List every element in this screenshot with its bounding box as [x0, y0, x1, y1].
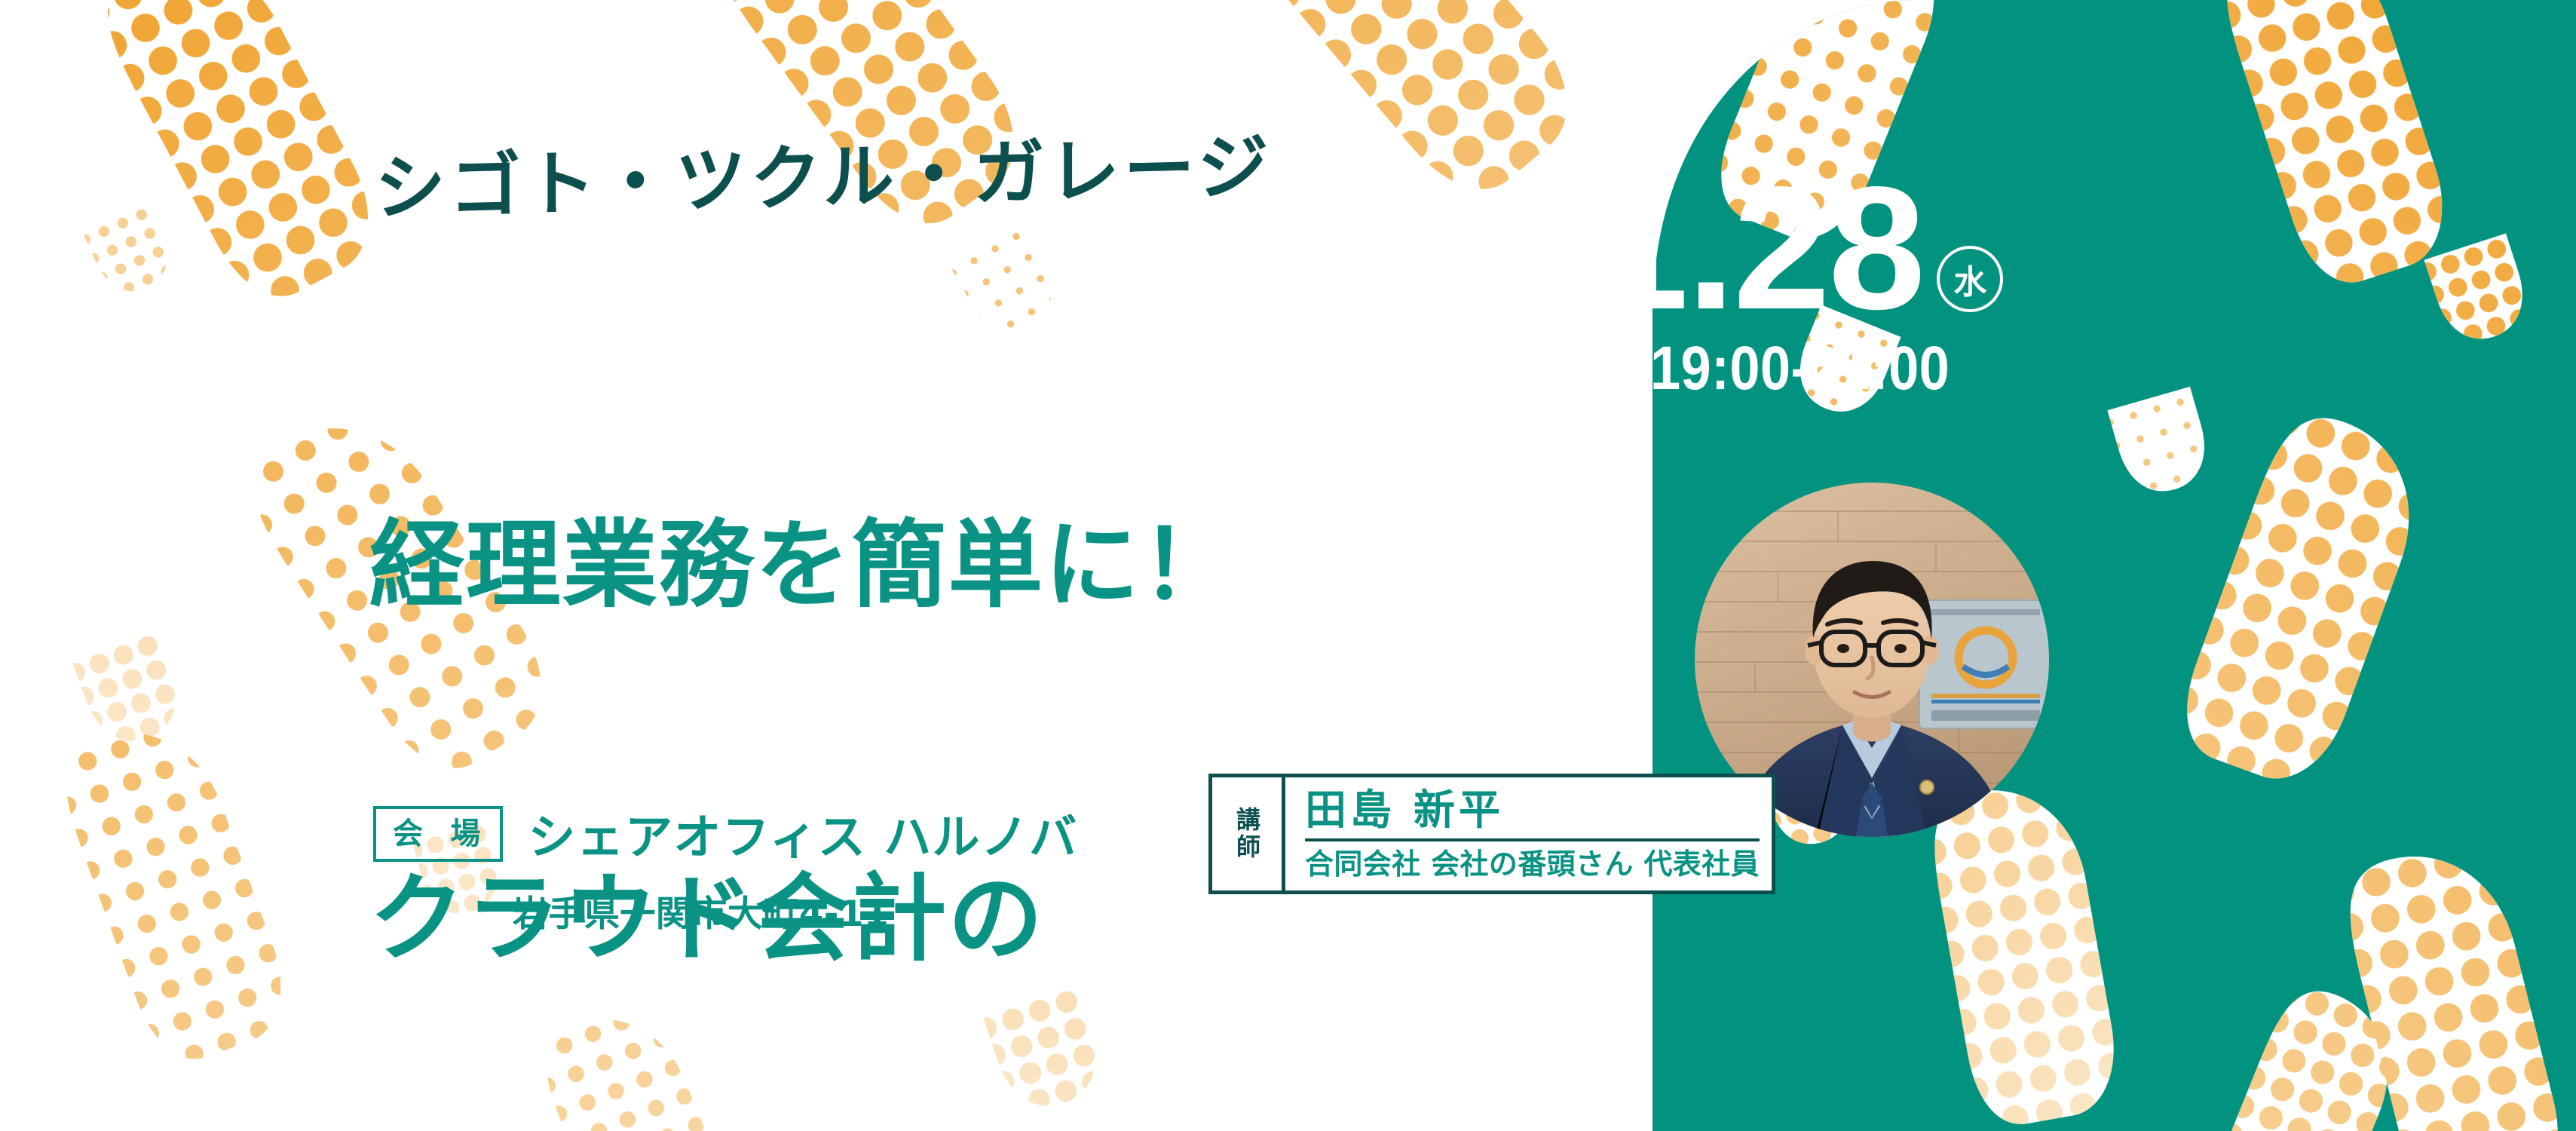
event-month-day: 1.28 [1591, 173, 1923, 324]
event-poster: シゴト・ツクル・ガレージ 経理業務を簡単に！ クラウド会計の 勉強会 会 場 シ… [0, 0, 2576, 1131]
speaker-title: 合同会社 会社の番頭さん 代表社員 [1305, 841, 1760, 880]
date-divider [1569, 179, 1572, 329]
speaker-info-box: 講師 田島 新平 合同会社 会社の番頭さん 代表社員 [1208, 774, 1775, 894]
date-row: 1.28 水 [1591, 173, 2003, 324]
event-date-block: 2026 1.28 水 19:00-21:00 [1508, 173, 2003, 400]
venue-name: シェアオフィス ハルノバ [528, 799, 1078, 868]
event-time: 19:00-21:00 [1650, 338, 1961, 400]
event-weekday-badge: 水 [1937, 246, 2003, 312]
venue-block: 会 場 シェアオフィス ハルノバ 岩手県一関市大町4-11 [373, 799, 1316, 936]
speaker-name: 田島 新平 [1305, 788, 1760, 841]
speaker-body: 田島 新平 合同会社 会社の番頭さん 代表社員 [1285, 777, 1773, 890]
event-year: 2026 [1508, 184, 1551, 295]
poster-kicker: シゴト・ツクル・ガレージ [375, 109, 1273, 234]
date-main: 1.28 水 19:00-21:00 [1591, 173, 2003, 400]
venue-row: 会 場 シェアオフィス ハルノバ [373, 799, 1316, 868]
poster-headline: 経理業務を簡単に！ クラウド会計の 勉強会 [369, 271, 1237, 1131]
venue-badge: 会 場 [373, 806, 503, 862]
headline-line-1: 経理業務を簡単に！ [369, 507, 1237, 624]
venue-address: 岩手県一関市大町4-11 [513, 884, 1316, 936]
speaker-label-text: 講師 [1235, 807, 1259, 861]
left-content: シゴト・ツクル・ガレージ 経理業務を簡単に！ クラウド会計の 勉強会 会 場 シ… [0, 0, 1432, 1131]
speaker-label: 講師 [1212, 777, 1285, 890]
